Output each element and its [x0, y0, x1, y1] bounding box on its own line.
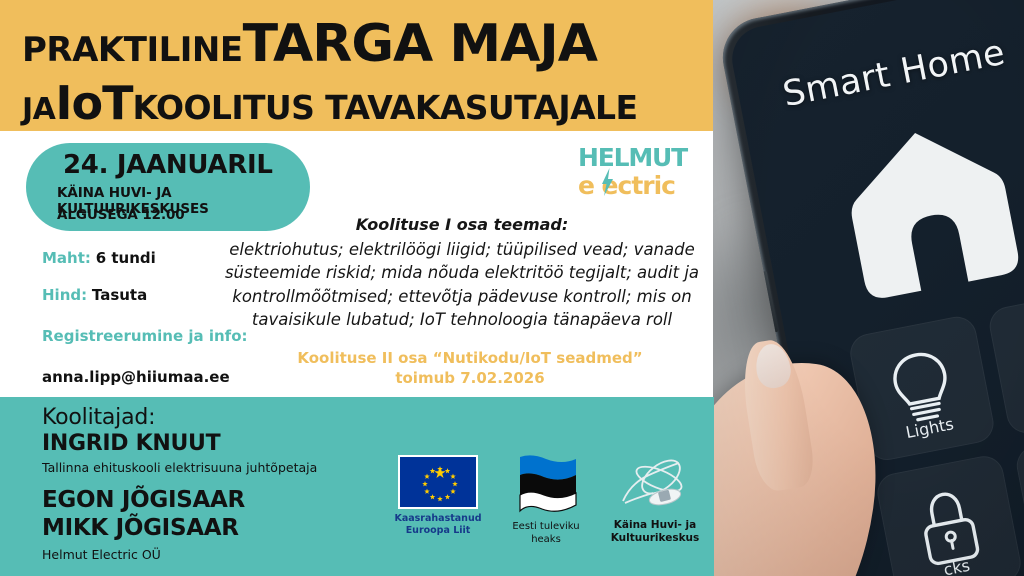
part-two-notice: Koolituse II osa “Nutikodu/IoT seadmed” … [240, 348, 700, 389]
headline-targa-maja: TARGA MAJA [243, 14, 597, 74]
registration-title: Registreerumine ja info: [42, 327, 248, 345]
estonia-flag-logo: Eesti tuleviku heaks [496, 453, 596, 546]
date-badge-date: 24. JAANUARIL [63, 150, 273, 180]
logo-word-electric-pre: e [578, 171, 594, 200]
topics-body: elektriohutus; elektrilöögi liigid; tüüp… [222, 238, 702, 332]
course-topics: Koolituse I osa teemad: elektriohutus; e… [222, 215, 702, 332]
trainer-name-1: INGRID KNUUT [42, 431, 317, 456]
house-icon [836, 114, 1024, 306]
logo-word-helmut: HELMUT [578, 145, 688, 170]
headline-praktiline: PRAKTILINE [22, 30, 243, 70]
eu-flag-logo: Kaasrahastanud Euroopa Liit [388, 455, 488, 537]
headline-line-1: PRAKTILINETARGA MAJA [22, 14, 597, 74]
logo-word-electric: electric [578, 173, 688, 198]
trainer-name-2: EGON JÕGISAAR [42, 487, 317, 513]
sponsor-logo-row: Kaasrahastanud Euroopa Liit Eesti tulevi… [388, 455, 708, 555]
kaina-logo-caption: Käina Huvi- ja Kultuurikeskus [602, 519, 708, 545]
helmut-electric-logo: HELMUT electric [578, 145, 688, 203]
tile-thermostat-label: Therm [1005, 380, 1024, 423]
trainer-name-3: MIKK JÕGISAAR [42, 515, 317, 541]
eu-flag-icon [398, 455, 478, 509]
headline-line-2: JAIoTKOOLITUS TAVAKASUTAJALE [22, 76, 637, 130]
kaina-culture-centre-logo: Käina Huvi- ja Kultuurikeskus [602, 453, 708, 545]
meta-label-price: Hind: [42, 286, 87, 304]
part-two-line-1: Koolituse II osa “Nutikodu/IoT seadmed” [240, 348, 700, 368]
estonia-flag-caption: Eesti tuleviku heaks [496, 521, 596, 546]
topics-heading: Koolituse I osa teemad: [222, 215, 702, 234]
smart-home-title: Smart Home [780, 33, 1009, 115]
trainer-1-subtitle: Tallinna ehituskooli elektrisuuna juhtõp… [42, 460, 317, 477]
headline-iot: IoT [55, 76, 132, 130]
headline-ja: JA [22, 92, 55, 127]
headline-koolitus: KOOLITUS TAVAKASUTAJALE [133, 88, 638, 127]
part-two-line-2: toimub 7.02.2026 [240, 368, 700, 388]
tile-locks[interactable]: cks [874, 453, 1024, 576]
footer-teal-section: Koolitajad: INGRID KNUUT Tallinna ehitus… [0, 397, 714, 576]
body-white-section: 24. JAANUARIL KÄINA HUVI- JA KULTUURIKES… [0, 131, 713, 397]
date-badge-start-time: ALGUSEGA 12.00 [57, 207, 185, 223]
meta-label-duration: Maht: [42, 249, 91, 267]
trainers-organisation: Helmut Electric OÜ [42, 547, 317, 562]
poster-canvas: Smart Home Lights [0, 0, 1024, 576]
header-banner: PRAKTILINETARGA MAJA JAIoTKOOLITUS TAVAK… [0, 0, 713, 131]
meta-value-price: Tasuta [92, 286, 147, 304]
trainers-block: Koolitajad: INGRID KNUUT Tallinna ehitus… [42, 405, 317, 562]
registration-email[interactable]: anna.lipp@hiiumaa.ee [42, 368, 230, 386]
trainers-heading: Koolitajad: [42, 405, 317, 430]
lightning-bolt-icon [601, 168, 614, 200]
meta-value-duration: 6 tundi [96, 249, 156, 267]
smart-home-phone-photo: Smart Home Lights [712, 0, 1024, 576]
eu-flag-caption: Kaasrahastanud Euroopa Liit [388, 513, 488, 537]
